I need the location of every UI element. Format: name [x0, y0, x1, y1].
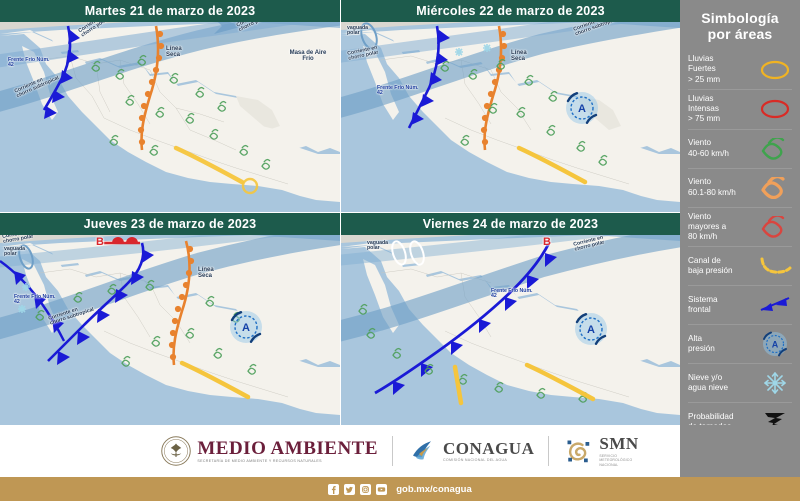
frontal-system-icon: [758, 292, 792, 318]
baja-presion-marker: B: [543, 237, 551, 249]
smn-title: SMN: [599, 435, 638, 452]
legend-label: Sistemafrontal: [688, 295, 718, 316]
smn-spiral-icon: [563, 436, 593, 466]
facebook-icon[interactable]: [328, 484, 339, 495]
high-pressure-symbol: A: [575, 313, 607, 345]
linea-seca-label: Línea Seca: [511, 50, 537, 63]
frente-frio-label: Frente Frío Núm. 42: [377, 86, 419, 97]
panel-title-jueves: Jueves 23 de marzo de 2023: [0, 213, 340, 235]
ellipse-yellow-icon: [758, 57, 792, 83]
legend-item-viento-60-80[interactable]: Viento60.1-80 km/h: [688, 169, 792, 208]
map-martes: [0, 0, 340, 212]
baja-presion-marker: B: [96, 237, 104, 249]
legend-label: Vientomayores a80 km/h: [688, 212, 726, 243]
legend-label: Nieve y/oagua nieve: [688, 373, 728, 394]
frente-frio-label: Frente Frío Núm. 42: [491, 289, 533, 300]
panel-jueves[interactable]: A Jueves 23 de marzo de 2023 B Frente Fr…: [0, 213, 340, 425]
high-pressure-symbol: A: [566, 92, 598, 124]
svg-text:A: A: [578, 103, 586, 115]
wind-swirl-red-icon: [758, 214, 792, 240]
footer-sidebar-filler: [680, 425, 800, 477]
wind-swirl-orange-icon: [758, 175, 792, 201]
vaguada-polar-label: vaguada polar: [347, 26, 373, 37]
svg-text:A: A: [772, 340, 779, 350]
legend-label: LluviasFuertes> 25 mm: [688, 54, 720, 85]
medio-ambiente-text: MEDIO AMBIENTE SECRETARÍA DE MEDIO AMBIE…: [197, 439, 378, 464]
website-url[interactable]: gob.mx/conagua: [396, 484, 471, 495]
masa-aire-frio-label: Masa de Aire Frío: [288, 50, 328, 63]
conagua-subtitle: COMISIÓN NACIONAL DEL AGUA: [443, 459, 534, 463]
legend-title-line1: Simbología: [701, 10, 778, 26]
legend-label: Altapresión: [688, 334, 715, 355]
snow-sleet-icon: [758, 370, 792, 396]
smn-subtitle: SERVICIOMETEOROLÓGICONACIONAL: [599, 454, 638, 467]
map-miercoles: A: [341, 0, 680, 212]
legend-item-lluvias-intensas[interactable]: LluviasIntensas> 75 mm: [688, 90, 792, 130]
smn-logo: SMN SERVICIOMETEOROLÓGICONACIONAL: [563, 435, 638, 467]
medio-ambiente-subtitle: SECRETARÍA DE MEDIO AMBIENTE Y RECURSOS …: [197, 460, 378, 464]
high-pressure-symbol: A: [230, 311, 262, 343]
mexico-eagle-seal-icon: [161, 436, 191, 466]
wind-swirl-green-icon: [758, 136, 792, 162]
svg-text:A: A: [587, 324, 595, 336]
high-pressure-icon: A: [758, 331, 792, 357]
weather-forecast-infographic: Martes 21 de marzo de 2023 Frente Frío N…: [0, 0, 800, 501]
panel-title-martes: Martes 21 de marzo de 2023: [0, 0, 340, 22]
legend-item-viento-mayores-80[interactable]: Vientomayores a80 km/h: [688, 208, 792, 248]
legend-title: Simbología por áreas: [680, 0, 800, 50]
legend-label: LluviasIntensas> 75 mm: [688, 94, 720, 125]
legend-item-viento-40-60[interactable]: Viento40-60 km/h: [688, 130, 792, 169]
footer: MEDIO AMBIENTE SECRETARÍA DE MEDIO AMBIE…: [0, 425, 800, 501]
ellipse-red-icon: [758, 96, 792, 122]
vaguada-polar-label: vaguada polar: [4, 247, 30, 258]
footer-divider-2: [548, 436, 549, 466]
maps-grid: Martes 21 de marzo de 2023 Frente Frío N…: [0, 0, 680, 425]
legend-label: Viento60.1-80 km/h: [688, 177, 736, 198]
footer-social-bar: gob.mx/conagua: [0, 477, 800, 501]
conagua-text: CONAGUA COMISIÓN NACIONAL DEL AGUA: [443, 440, 534, 463]
legend-items: LluviasFuertes> 25 mm LluviasIntensas> 7…: [680, 50, 800, 441]
legend-sidebar: Simbología por áreas LluviasFuertes> 25 …: [680, 0, 800, 425]
medio-ambiente-title: MEDIO AMBIENTE: [197, 439, 378, 458]
instagram-icon[interactable]: [360, 484, 371, 495]
medio-ambiente-logo: MEDIO AMBIENTE SECRETARÍA DE MEDIO AMBIE…: [161, 436, 378, 466]
linea-seca-label: Línea Seca: [166, 46, 192, 59]
frente-frio-label: Frente Frío Núm. 42: [8, 58, 52, 69]
low-pressure-channel-icon: [758, 253, 792, 279]
legend-item-sistema-frontal[interactable]: Sistemafrontal: [688, 286, 792, 325]
legend-label: Viento40-60 km/h: [688, 138, 729, 159]
legend-item-lluvias-fuertes[interactable]: LluviasFuertes> 25 mm: [688, 50, 792, 90]
legend-item-nieve[interactable]: Nieve y/oagua nieve: [688, 364, 792, 403]
conagua-water-icon: [407, 436, 437, 466]
twitter-icon[interactable]: [344, 484, 355, 495]
conagua-title: CONAGUA: [443, 440, 534, 457]
panel-title-viernes: Viernes 24 de marzo de 2023: [341, 213, 680, 235]
legend-item-alta-presion[interactable]: Altapresión A: [688, 325, 792, 364]
footer-divider-1: [392, 436, 393, 466]
panel-title-miercoles: Miércoles 22 de marzo de 2023: [341, 0, 680, 22]
linea-seca-label: Línea Seca: [198, 267, 224, 280]
panel-miercoles[interactable]: A Miércoles 22 de marzo de 2023 Frente F…: [341, 0, 680, 212]
legend-label: Canal debaja presión: [688, 256, 733, 277]
frente-frio-label: Frente Frío Núm. 42: [14, 295, 56, 306]
smn-text: SMN SERVICIOMETEOROLÓGICONACIONAL: [599, 435, 638, 467]
youtube-icon[interactable]: [376, 484, 387, 495]
panel-viernes[interactable]: A Viernes 24 de marzo de 2023 B Frente F…: [341, 213, 680, 425]
conagua-logo: CONAGUA COMISIÓN NACIONAL DEL AGUA: [407, 436, 534, 466]
vaguada-polar-label: vaguada polar: [367, 241, 393, 252]
legend-title-line2: por áreas: [708, 26, 773, 42]
panel-martes[interactable]: Martes 21 de marzo de 2023 Frente Frío N…: [0, 0, 340, 212]
svg-text:A: A: [242, 322, 250, 334]
legend-item-canal-baja-presion[interactable]: Canal debaja presión: [688, 247, 792, 286]
